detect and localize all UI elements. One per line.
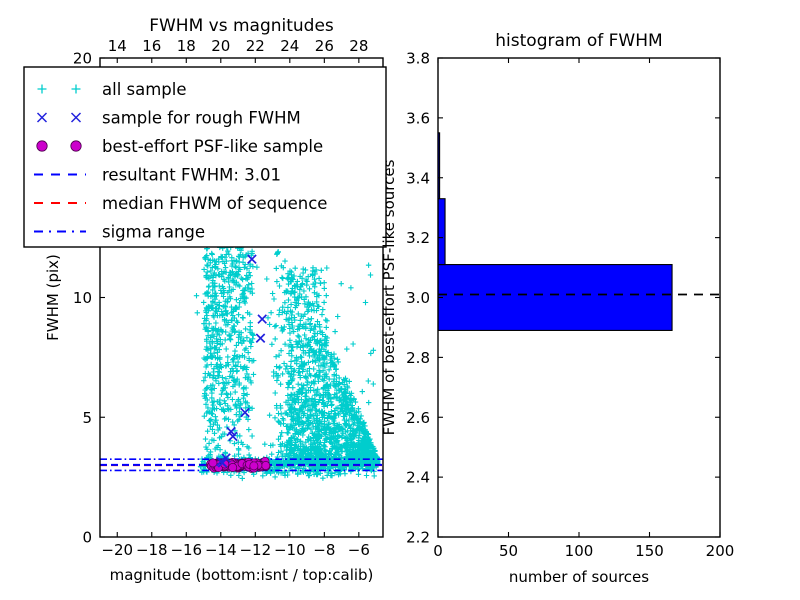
left-xtick-label: −18 xyxy=(136,541,168,559)
matplotlib-figure: −20−18−16−14−12−10−8−6141618202224262805… xyxy=(0,0,800,600)
legend-item-label: best-effort PSF-like sample xyxy=(102,137,323,156)
scatter-data-layer xyxy=(100,238,383,482)
histogram-bar xyxy=(438,265,672,331)
legend-item-label: resultant FWHM: 3.01 xyxy=(102,166,281,185)
left-top-xtick-label: 14 xyxy=(108,37,127,55)
legend-circle-icon xyxy=(37,141,47,151)
left-top-xtick-label: 24 xyxy=(280,37,299,55)
figure-canvas: −20−18−16−14−12−10−8−6141618202224262805… xyxy=(0,0,800,600)
left-ytick-label: 5 xyxy=(82,409,92,427)
left-xtick-label: −20 xyxy=(101,541,133,559)
histogram-data-layer xyxy=(438,133,720,331)
left-top-xtick-label: 28 xyxy=(349,37,368,55)
right-yaxis-label: FWHM of best-effort PSF-like sources xyxy=(380,159,398,435)
left-xtick-label: −12 xyxy=(239,541,271,559)
left-top-xtick-label: 18 xyxy=(177,37,196,55)
legend-circle-icon xyxy=(71,141,81,151)
right-ytick-label: 3.6 xyxy=(406,109,430,127)
right-xtick-label: 150 xyxy=(635,542,664,560)
legend-box xyxy=(24,67,386,247)
left-xtick-label: −10 xyxy=(274,541,306,559)
left-top-xtick-label: 22 xyxy=(246,37,265,55)
right-ytick-label: 3.2 xyxy=(406,229,430,247)
legend: all samplesample for rough FWHMbest-effo… xyxy=(24,67,386,247)
histogram-bar xyxy=(438,199,445,265)
right-xtick-label: 0 xyxy=(433,542,443,560)
left-yaxis-label: FWHM (pix) xyxy=(44,254,62,341)
left-xtick-label: −16 xyxy=(170,541,202,559)
left-ytick-label: 20 xyxy=(73,50,92,68)
right-ytick-label: 3.8 xyxy=(406,50,430,68)
right-ytick-label: 3.0 xyxy=(406,289,430,307)
legend-item-label: sample for rough FWHM xyxy=(102,109,301,128)
right-ytick-label: 3.4 xyxy=(406,169,430,187)
left-xtick-label: −6 xyxy=(348,541,370,559)
left-ytick-label: 0 xyxy=(82,529,92,547)
legend-item-label: all sample xyxy=(102,80,187,99)
legend-item-label: sigma range xyxy=(102,223,205,242)
left-top-xtick-label: 26 xyxy=(315,37,334,55)
left-panel-title: FWHM vs magnitudes xyxy=(149,16,334,36)
right-xtick-label: 50 xyxy=(499,542,518,560)
left-ytick-label: 10 xyxy=(73,289,92,307)
left-xtick-label: −14 xyxy=(205,541,237,559)
left-top-xtick-label: 16 xyxy=(142,37,161,55)
right-ytick-label: 2.4 xyxy=(406,469,430,487)
left-xtick-label: −8 xyxy=(313,541,335,559)
all-sample-points xyxy=(194,238,381,482)
right-ytick-label: 2.6 xyxy=(406,409,430,427)
left-xaxis-label: magnitude (bottom:isnt / top:calib) xyxy=(110,566,374,584)
right-panel-title: histogram of FWHM xyxy=(495,31,662,51)
right-xtick-label: 200 xyxy=(706,542,735,560)
right-ytick-label: 2.2 xyxy=(406,529,430,547)
right-xaxis-label: number of sources xyxy=(509,568,649,586)
legend-item-label: median FHWM of sequence xyxy=(102,194,327,213)
right-panel-axes: 0501001502002.22.42.62.83.03.23.43.63.8h… xyxy=(380,31,734,586)
right-xtick-label: 100 xyxy=(565,542,594,560)
right-ytick-label: 2.8 xyxy=(406,349,430,367)
left-top-xtick-label: 20 xyxy=(211,37,230,55)
